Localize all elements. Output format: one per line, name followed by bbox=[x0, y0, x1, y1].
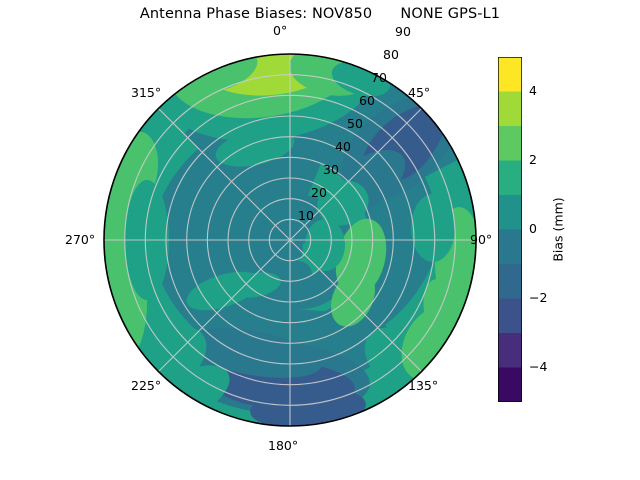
angle-label-315: 315° bbox=[131, 85, 161, 100]
radial-label-40: 40 bbox=[335, 139, 351, 154]
colorbar-tick-neg4: −4 bbox=[529, 359, 547, 374]
polar-axes[interactable]: 0° 45° 90° 135° 180° 225° 270° 315° 10 2… bbox=[103, 53, 477, 427]
angle-label-0: 0° bbox=[273, 23, 287, 38]
colorbar-tick-4: 4 bbox=[529, 83, 537, 98]
angle-label-135: 135° bbox=[408, 378, 438, 393]
page-title: Antenna Phase Biases: NOV850 NONE GPS-L1 bbox=[0, 6, 640, 22]
colorbar-tick-neg2: −2 bbox=[529, 290, 547, 305]
angle-label-90: 90° bbox=[470, 232, 492, 247]
angle-label-45: 45° bbox=[408, 85, 430, 100]
radial-label-60: 60 bbox=[359, 93, 375, 108]
radial-label-30: 30 bbox=[323, 162, 339, 177]
angle-label-270: 270° bbox=[65, 232, 95, 247]
colorbar-axis-label-text: Bias (mm) bbox=[551, 197, 566, 261]
radial-label-50: 50 bbox=[347, 116, 363, 131]
figure-canvas: Antenna Phase Biases: NOV850 NONE GPS-L1 bbox=[0, 0, 640, 480]
colorbar-gradient bbox=[498, 57, 522, 402]
radial-label-10: 10 bbox=[298, 208, 314, 223]
radial-label-80: 80 bbox=[383, 47, 399, 62]
polar-contour-plot bbox=[103, 53, 477, 427]
angle-label-225: 225° bbox=[131, 378, 161, 393]
polar-grid bbox=[104, 54, 476, 426]
colorbar[interactable]: 4 2 0 −2 −4 bbox=[498, 57, 522, 402]
radial-label-20: 20 bbox=[311, 185, 327, 200]
colorbar-tick-0: 0 bbox=[529, 221, 537, 236]
radial-label-90: 90 bbox=[395, 24, 411, 39]
colorbar-tick-2: 2 bbox=[529, 152, 537, 167]
angle-label-180: 180° bbox=[268, 438, 298, 453]
colorbar-axis-label: Bias (mm) bbox=[548, 57, 568, 402]
radial-label-70: 70 bbox=[371, 70, 387, 85]
